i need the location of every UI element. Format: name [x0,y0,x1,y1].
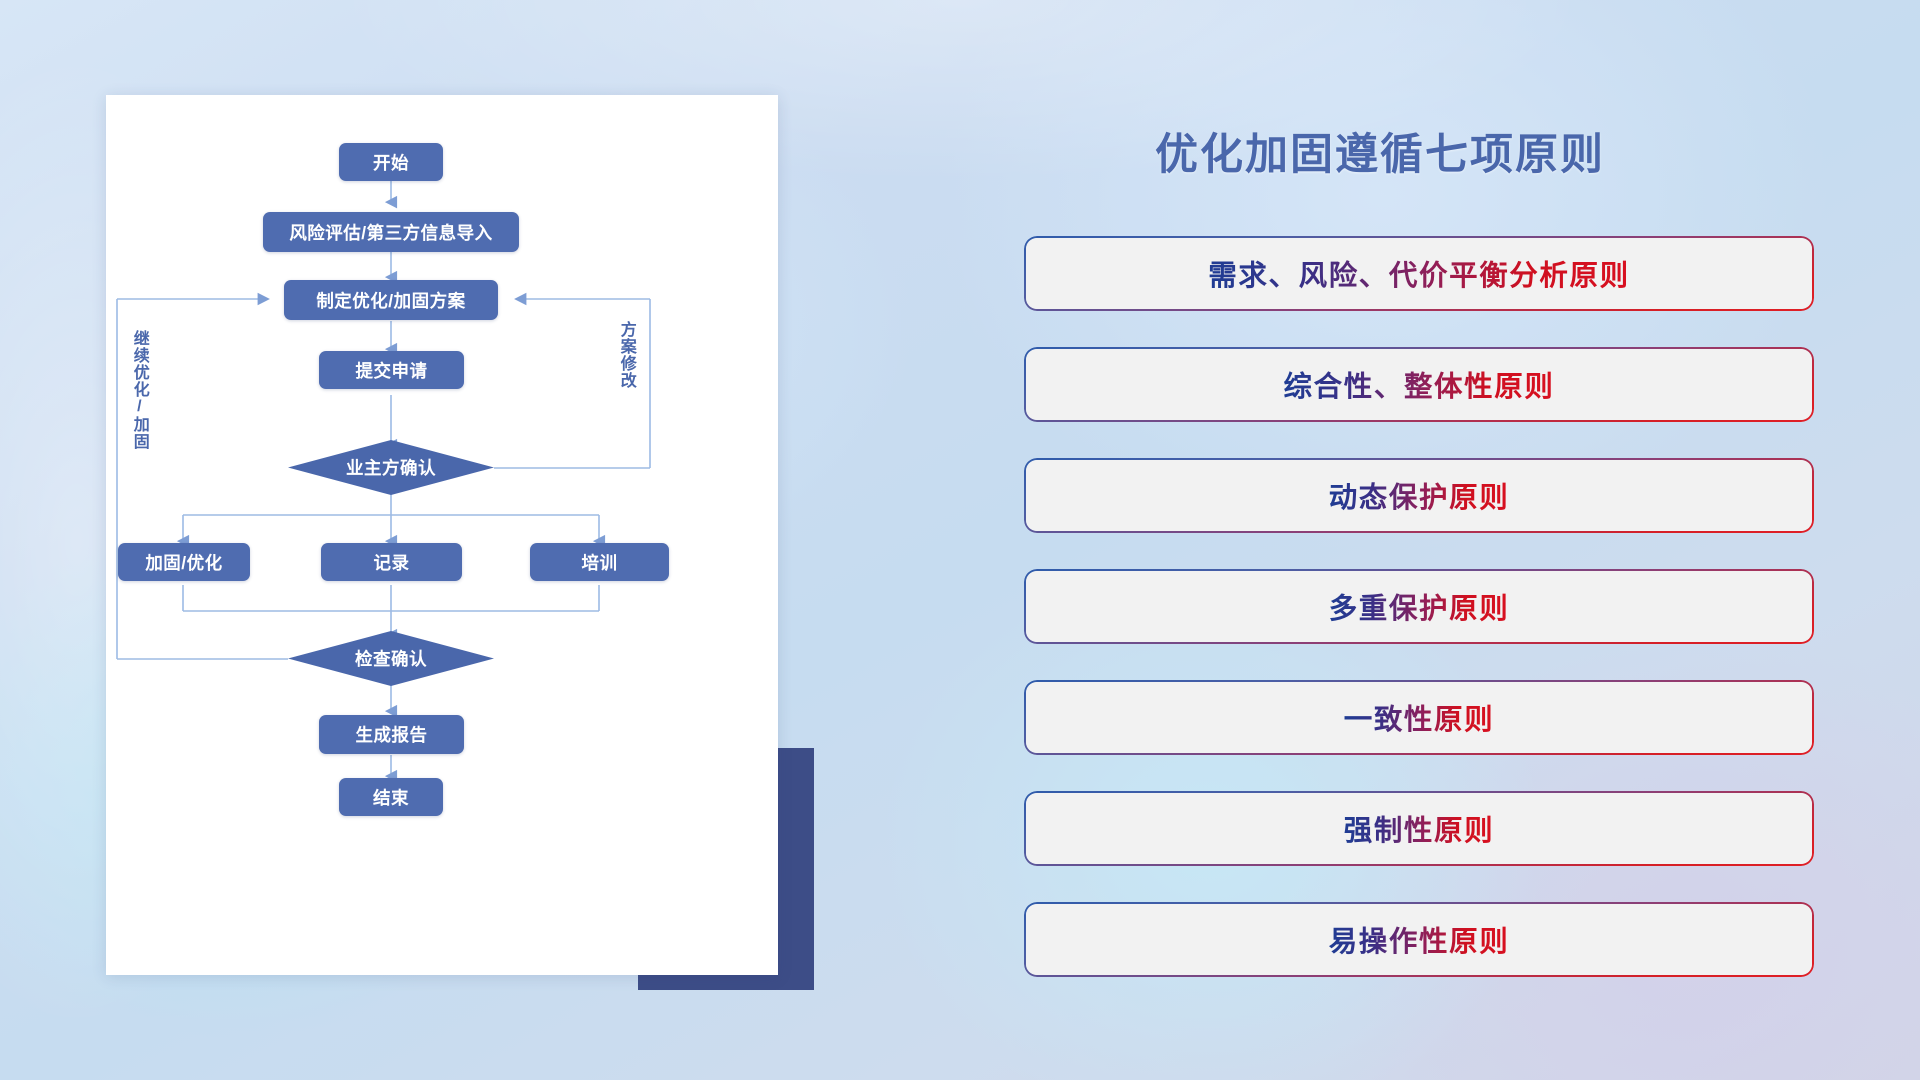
principle-item[interactable]: 综合性、整体性原则 [1024,347,1814,422]
principle-item[interactable]: 易操作性原则 [1024,902,1814,977]
principle-item[interactable]: 多重保护原则 [1024,569,1814,644]
flow-node-reinforce[interactable]: 加固/优化 [118,543,250,581]
principle-item[interactable]: 强制性原则 [1024,791,1814,866]
principles-list: 需求、风险、代价平衡分析原则 综合性、整体性原则 动态保护原则 多重保护原则 一… [1024,236,1814,1013]
edge-label-plan-revision: 方案修改 [617,321,634,431]
flow-node-check-confirmation[interactable]: 检查确认 [288,631,494,686]
principle-label: 强制性原则 [1344,808,1495,849]
principle-item[interactable]: 需求、风险、代价平衡分析原则 [1024,236,1814,311]
principle-label: 多重保护原则 [1329,586,1510,627]
edge-label-continue-optimize: 继续优化/加固 [130,330,147,470]
flow-node-training[interactable]: 培训 [530,543,669,581]
principle-label: 综合性、整体性原则 [1284,364,1555,405]
principle-label: 易操作性原则 [1329,919,1510,960]
flow-node-start[interactable]: 开始 [339,143,443,181]
flow-node-submit-application[interactable]: 提交申请 [319,351,464,389]
flow-node-end[interactable]: 结束 [339,778,443,816]
page-title: 优化加固遵循七项原则 [1155,120,1605,182]
principle-item[interactable]: 一致性原则 [1024,680,1814,755]
principle-label: 需求、风险、代价平衡分析原则 [1208,253,1629,294]
flow-node-owner-confirmation[interactable]: 业主方确认 [288,440,494,495]
principle-label: 一致性原则 [1344,697,1495,738]
flow-node-record[interactable]: 记录 [321,543,462,581]
principle-label: 动态保护原则 [1329,475,1510,516]
flow-node-risk-assessment[interactable]: 风险评估/第三方信息导入 [263,212,519,252]
flowchart-card: 开始 风险评估/第三方信息导入 制定优化/加固方案 提交申请 业主方确认 加固/… [106,95,778,975]
flow-node-plan[interactable]: 制定优化/加固方案 [284,280,498,320]
principle-item[interactable]: 动态保护原则 [1024,458,1814,533]
flow-node-generate-report[interactable]: 生成报告 [319,715,464,754]
